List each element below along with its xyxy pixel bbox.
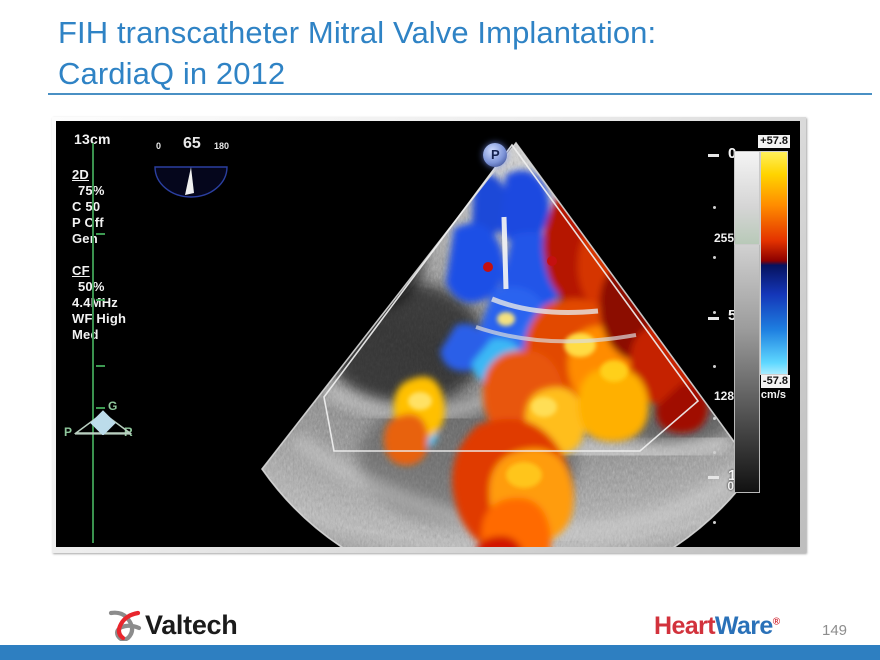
orientation-left-label: P [64, 425, 72, 439]
axis-tick [96, 233, 105, 235]
sector-angle-dial [152, 155, 230, 199]
doppler-color-bar [760, 151, 788, 375]
axis-tick [96, 365, 105, 367]
page-title: FIH transcatheter Mitral Valve Implantat… [58, 12, 858, 94]
page-number: 149 [822, 622, 847, 639]
mode-2d-heading: 2D [72, 167, 89, 182]
mode-cf-frequency: 4.4MHz [72, 295, 118, 310]
mode-cf-priority: Med [72, 327, 99, 342]
heartware-logo: HeartWare® [654, 612, 780, 641]
probe-orientation-glyph [74, 409, 132, 435]
mode-cf-heading: CF [72, 263, 90, 278]
velocity-unit-label: cm/s [759, 389, 788, 402]
mode-2d-compress: C 50 [72, 199, 100, 214]
valtech-logo: Valtech [108, 608, 237, 642]
title-divider [48, 93, 872, 95]
orientation-axis [92, 143, 94, 543]
color-scale-bars: +57.8 -57.8 cm/s 255 128 0 [716, 135, 790, 535]
gray-top-label: 255 [714, 231, 734, 245]
angle-min-label: 0 [156, 141, 161, 151]
mode-2d-persistence: P Off [72, 215, 104, 230]
valtech-wordmark: Valtech [145, 610, 237, 641]
mode-2d-map: Gen [72, 231, 98, 246]
axis-tick [96, 299, 105, 301]
gray-mid-label: 128 [714, 389, 734, 403]
grayscale-bar-upper [734, 151, 760, 245]
heartware-heart-text: Heart [654, 612, 715, 640]
probe-marker-label: P [491, 147, 500, 162]
angle-current-label: 65 [183, 135, 201, 153]
velocity-max-label: +57.8 [758, 135, 790, 148]
valtech-mark-icon [108, 609, 142, 641]
mode-cf-wall-filter: WF High [72, 311, 126, 326]
footer-bar [0, 645, 880, 660]
ultrasound-sector [206, 139, 766, 547]
ultrasound-image-frame: 13cm 2D 75% C 50 P Off Gen CF 50% 4.4MHz… [52, 117, 806, 553]
angle-max-label: 180 [214, 141, 229, 151]
gray-bottom-label: 0 [727, 479, 734, 493]
heartware-ware-text: Ware [715, 612, 773, 640]
velocity-min-label: -57.8 [761, 375, 790, 388]
echocardiogram-image: 13cm 2D 75% C 50 P Off Gen CF 50% 4.4MHz… [56, 121, 800, 547]
registered-trademark-icon: ® [773, 617, 780, 628]
